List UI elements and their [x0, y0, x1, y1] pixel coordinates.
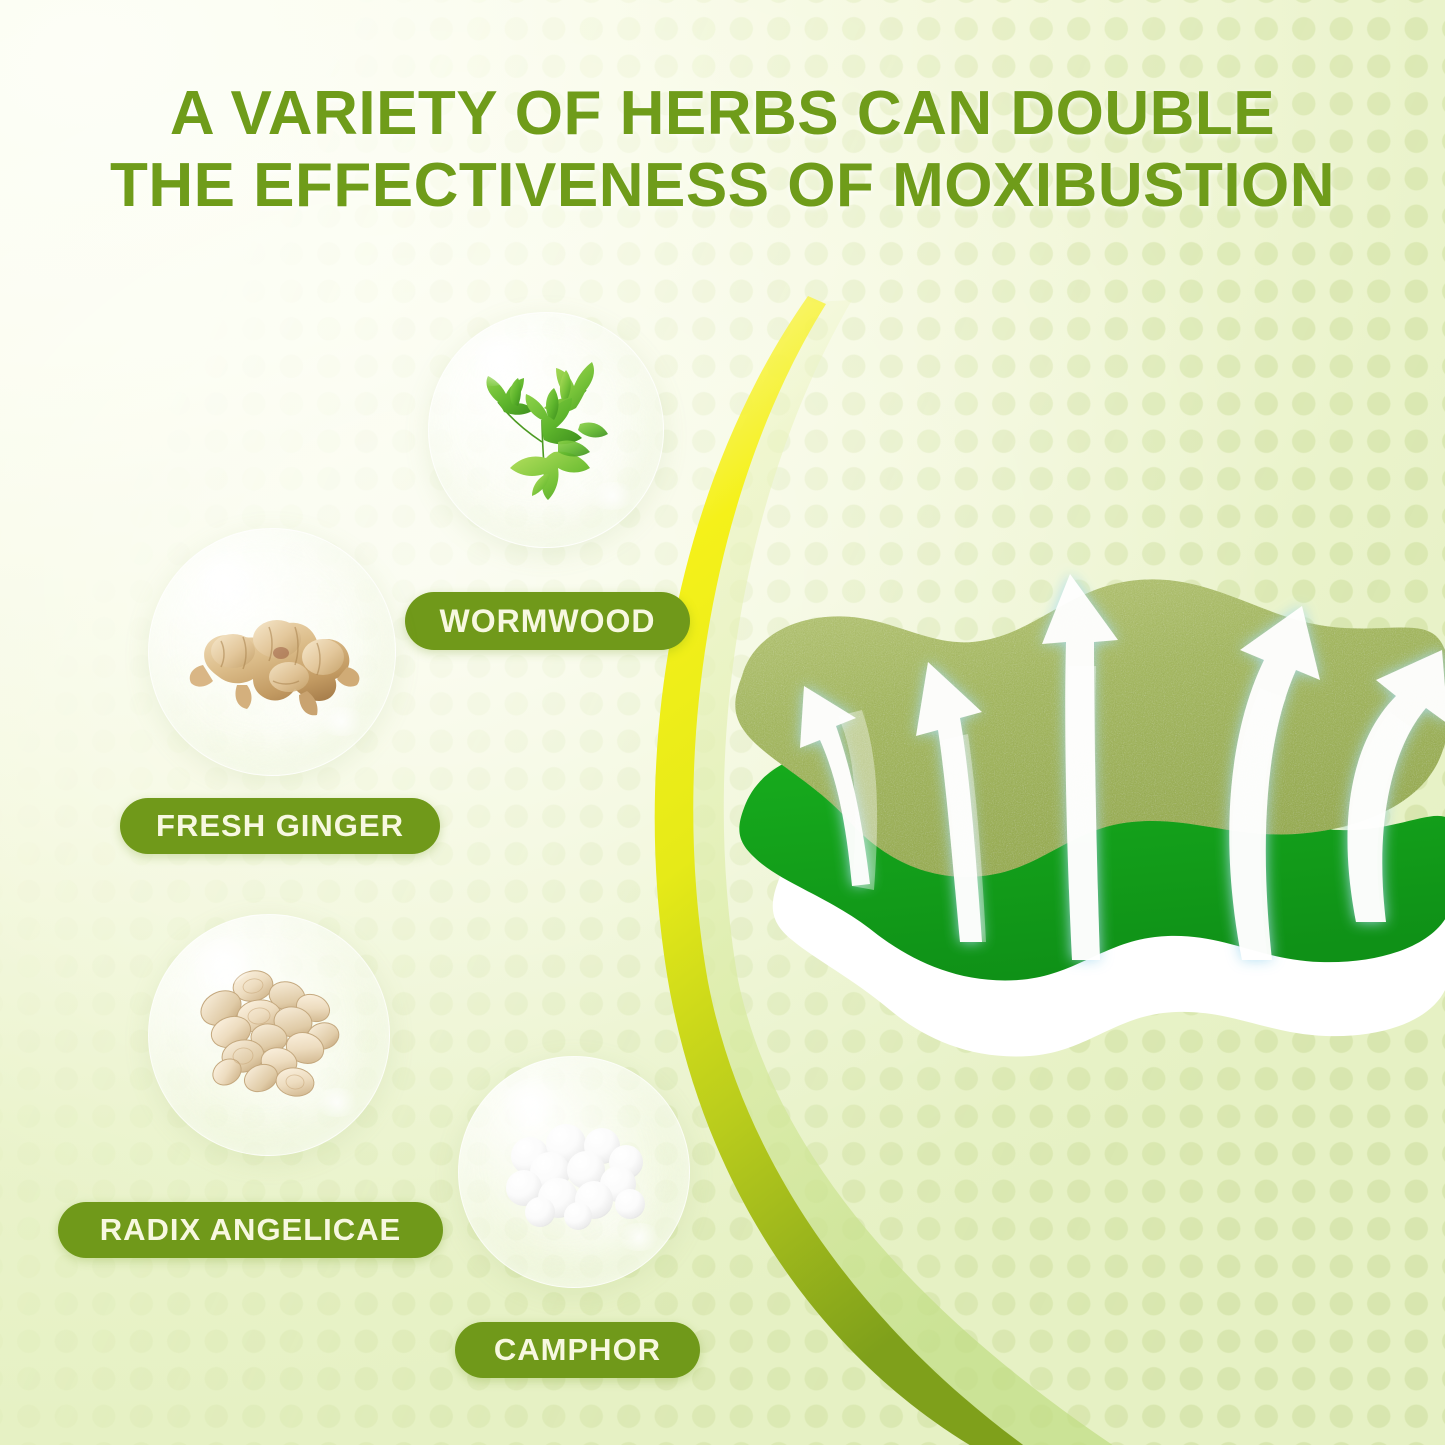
- bubble-highlight-small: [616, 1223, 662, 1251]
- page-title: A VARIETY OF HERBS CAN DOUBLE THE EFFECT…: [0, 78, 1445, 222]
- ingredient-bubble-camphor[interactable]: [458, 1056, 690, 1288]
- ingredient-label-radix-angelicae[interactable]: RADIX ANGELICAE: [58, 1202, 443, 1258]
- bubble-highlight-small: [589, 482, 636, 510]
- ingredient-label-camphor[interactable]: CAMPHOR: [455, 1322, 700, 1378]
- ingredient-label-fresh-ginger[interactable]: FRESH GINGER: [120, 798, 440, 854]
- camphor-pellets-icon: [458, 1056, 690, 1288]
- ingredient-bubble-wormwood[interactable]: [428, 312, 664, 548]
- ingredient-bubble-radix-angelicae[interactable]: [148, 914, 390, 1156]
- ginger-root-icon: [148, 528, 396, 776]
- ingredient-bubble-fresh-ginger[interactable]: [148, 528, 396, 776]
- bubble-highlight-small: [313, 1088, 361, 1117]
- ingredient-label-wormwood[interactable]: WORMWOOD: [405, 592, 690, 650]
- wormwood-leaves-icon: [428, 312, 664, 548]
- root-slices-icon: [148, 914, 390, 1156]
- infographic-canvas: A VARIETY OF HERBS CAN DOUBLE THE EFFECT…: [0, 0, 1445, 1445]
- moxibustion-patch-diagram: [720, 490, 1445, 1110]
